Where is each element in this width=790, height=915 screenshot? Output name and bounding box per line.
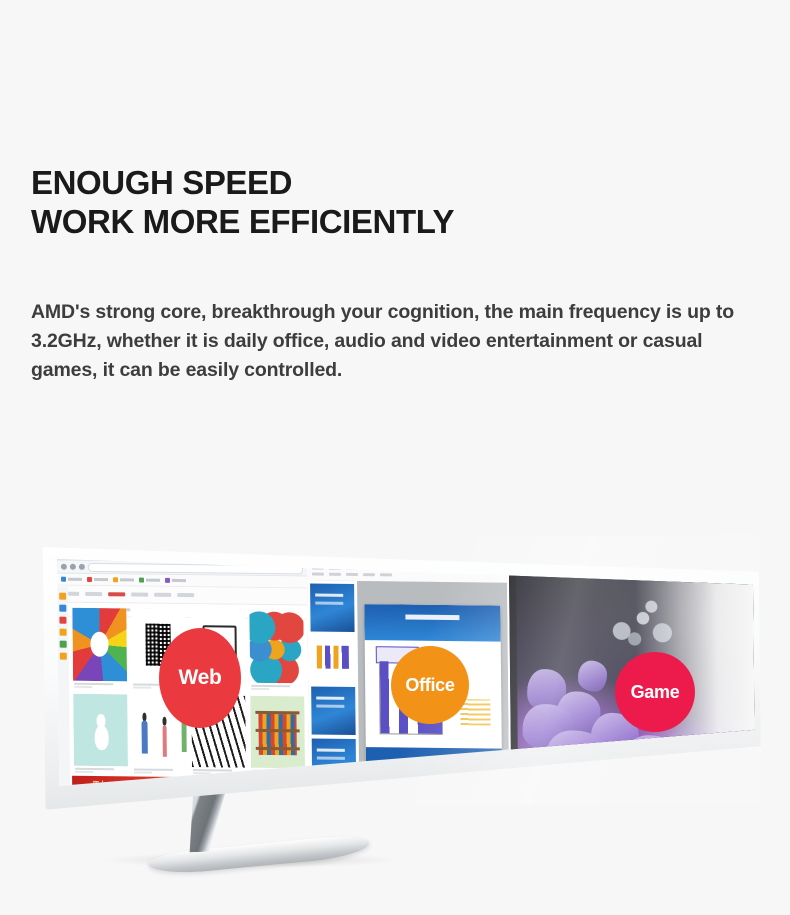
toolbar-control[interactable] [85,592,102,596]
badge-office[interactable]: Office [391,646,469,724]
card-caption [73,680,127,689]
sidebar-icon[interactable] [60,629,67,636]
headline-line-2: WORK MORE EFFICIENTLY [31,202,751,241]
slide-thumbnail-panel[interactable] [307,580,359,789]
taskbar-icon[interactable] [327,791,335,796]
headline-block: ENOUGH SPEED WORK MORE EFFICIENTLY [31,163,751,241]
badge-web[interactable]: Web [159,628,241,728]
rock-formation [578,661,607,692]
toolbar-control-accent[interactable] [108,592,125,596]
card-caption [133,766,187,775]
back-arrow-icon[interactable] [61,564,67,570]
grid-card[interactable] [250,695,305,776]
forward-arrow-icon[interactable] [70,564,76,570]
badge-game-label: Game [631,682,680,703]
bookmark-item[interactable] [87,577,108,582]
tree-canopy-art [589,592,697,658]
monitor-scene: 双十一1O1元起大促销 特价2送2倍 | 限时抢购 11:13:12:05 [0,500,790,915]
bookmark-item[interactable] [165,578,186,583]
colored-pencils-thumbnail [72,608,127,681]
slide-thumbnail[interactable] [311,635,356,683]
bookmark-item[interactable] [139,578,160,583]
game-taskbar [511,790,755,796]
grid-card[interactable] [72,608,127,689]
snowman-thumbnail [73,693,128,766]
taskbar-icon[interactable] [339,791,347,796]
grid-card[interactable] [73,693,128,774]
toolbar-control[interactable] [154,593,171,597]
monitor-stand-base [147,833,370,876]
reload-icon[interactable] [79,564,85,570]
sidebar-icon[interactable] [59,593,66,600]
toolbar-control[interactable] [177,593,194,597]
badge-office-label: Office [405,675,454,696]
sidebar-icon[interactable] [60,653,67,660]
card-caption [74,766,128,775]
badge-web-label: Web [178,666,221,690]
icon-set-thumbnail [249,610,304,683]
body-paragraph: AMD's strong core, breakthrough your cog… [31,298,753,385]
product-feature-page: ENOUGH SPEED WORK MORE EFFICIENTLY AMD's… [0,0,790,915]
browser-sidebar[interactable] [57,587,70,796]
taskbar-icon[interactable] [351,791,359,796]
slide-legend [461,699,491,725]
taskbar-icon[interactable] [363,791,371,796]
slide-header [364,604,500,641]
slide-thumbnail[interactable] [311,686,356,734]
sidebar-icon[interactable] [59,605,66,612]
taskbar-icon[interactable] [315,791,323,796]
bookmark-item[interactable] [61,577,82,582]
grid-card[interactable] [249,610,304,691]
bookshelf-thumbnail [250,695,305,768]
badge-game[interactable]: Game [615,652,695,732]
card-caption [250,682,304,691]
bookmark-item[interactable] [113,577,134,582]
slide-thumbnail[interactable] [310,583,355,631]
sidebar-icon[interactable] [60,641,67,648]
sidebar-icon[interactable] [59,617,66,624]
office-taskbar[interactable] [309,788,509,795]
headline-line-1: ENOUGH SPEED [31,163,751,202]
toolbar-control[interactable] [131,592,148,596]
